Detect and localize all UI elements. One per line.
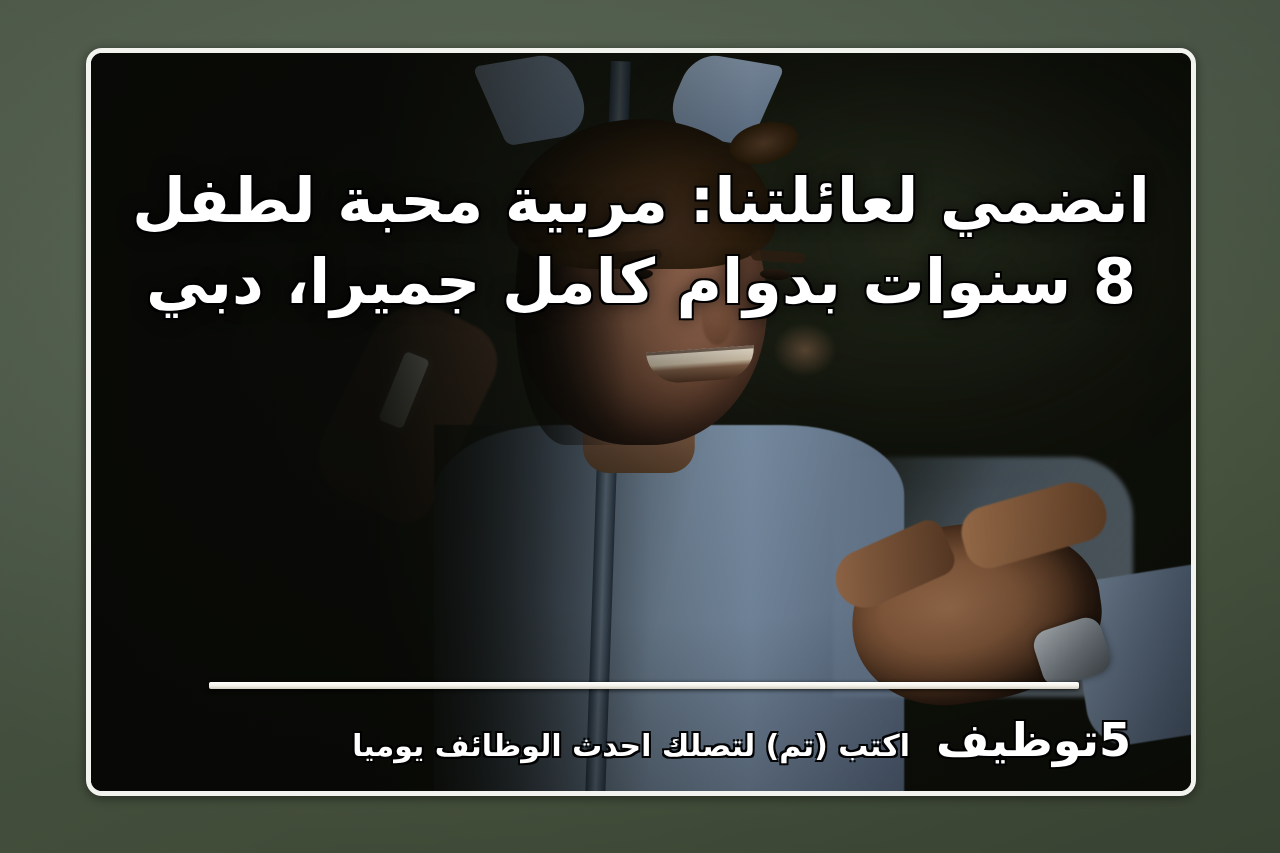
tagline-text: اكتب (تم) لتصلك احدث الوظائف يوميا — [352, 729, 910, 764]
job-ad-card: انضمي لعائلتنا: مربية محبة لطفل 8 سنوات … — [0, 0, 1280, 853]
divider-rule — [209, 682, 1079, 689]
photo-frame: انضمي لعائلتنا: مربية محبة لطفل 8 سنوات … — [86, 48, 1196, 796]
footer-brand-row: 5توظيف اكتب (تم) لتصلك احدث الوظائف يومي… — [151, 713, 1131, 767]
text-overlay: انضمي لعائلتنا: مربية محبة لطفل 8 سنوات … — [91, 53, 1191, 791]
headline-text: انضمي لعائلتنا: مربية محبة لطفل 8 سنوات … — [131, 161, 1151, 322]
brand-logo-text: 5توظيف — [936, 713, 1131, 767]
